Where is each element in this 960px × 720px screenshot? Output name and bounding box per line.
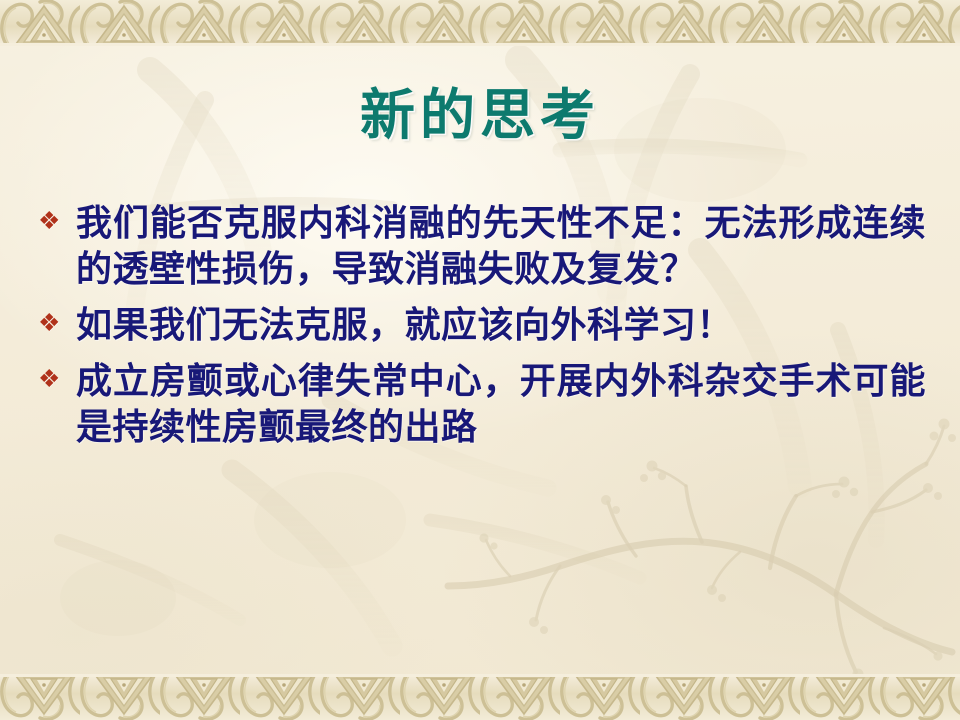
bullet-text: 我们能否克服内科消融的先天性不足：无法形成连续的透壁性损伤，导致消融失败及复发？ <box>76 200 926 292</box>
diamond-bullet-icon: ❖ <box>34 358 76 402</box>
bullet-text: 如果我们无法克服，就应该向外科学习！ <box>76 302 926 348</box>
bullet-text: 成立房颤或心律失常中心，开展内外科杂交手术可能是持续性房颤最终的出路 <box>76 358 926 450</box>
bullet-item: ❖ 如果我们无法克服，就应该向外科学习！ <box>34 302 926 348</box>
diamond-bullet-icon: ❖ <box>34 302 76 346</box>
slide-body-bullet-list: ❖ 我们能否克服内科消融的先天性不足：无法形成连续的透壁性损伤，导致消融失败及复… <box>34 200 926 450</box>
diamond-bullet-icon: ❖ <box>34 200 76 244</box>
slide-title: 新的思考 <box>0 86 960 145</box>
presentation-slide: 新的思考 ❖ 我们能否克服内科消融的先天性不足：无法形成连续的透壁性损伤，导致消… <box>0 0 960 720</box>
bullet-item: ❖ 成立房颤或心律失常中心，开展内外科杂交手术可能是持续性房颤最终的出路 <box>34 358 926 450</box>
bullet-item: ❖ 我们能否克服内科消融的先天性不足：无法形成连续的透壁性损伤，导致消融失败及复… <box>34 200 926 292</box>
